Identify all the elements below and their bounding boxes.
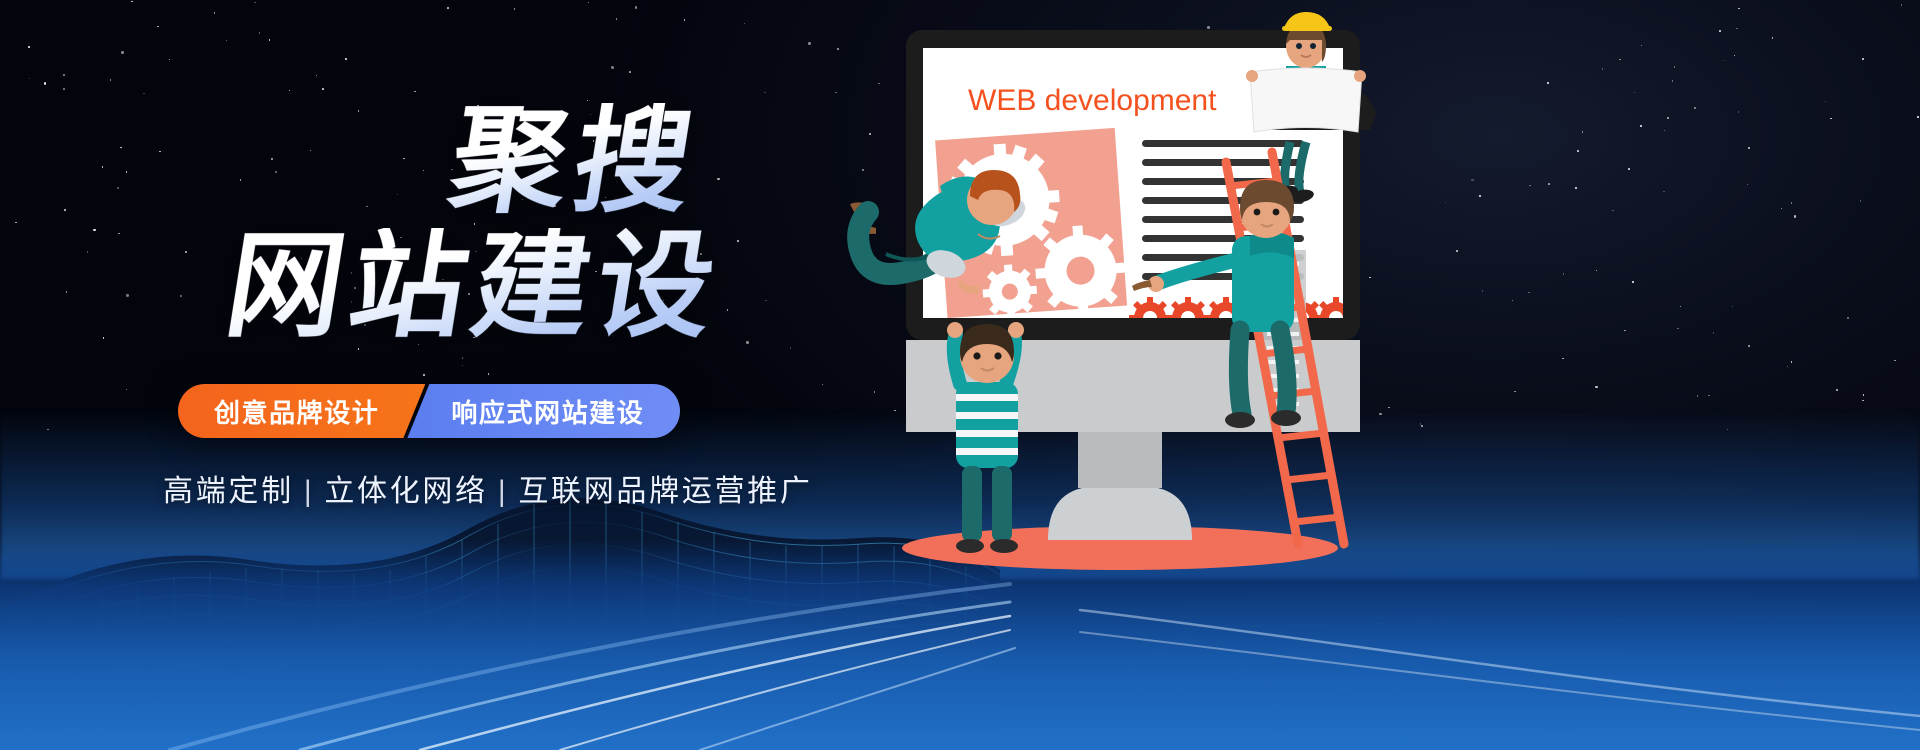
star [1563,273,1565,275]
monitor-base [1048,488,1192,540]
star [1738,111,1740,113]
star [1479,195,1481,197]
star [1562,358,1564,360]
star [1680,306,1682,308]
promo-banner: 聚搜 网站建设 创意品牌设计 响应式网站建设 高端定制|立体化网络|互联网品牌运… [0,0,1920,750]
star [1595,386,1598,389]
star [1836,389,1838,391]
star [1894,360,1896,362]
star [1641,45,1643,47]
star [1862,400,1864,402]
star [1548,183,1550,185]
star [1860,200,1862,202]
star [1734,55,1736,57]
star [1825,101,1827,103]
star [1862,58,1864,60]
star [1847,317,1849,319]
headline-line-1: 聚搜 [443,103,707,219]
star [1748,147,1750,149]
feature-pill-group: 创意品牌设计 响应式网站建设 [178,384,680,438]
illustration-svg: WEB development [820,0,1460,750]
screen-heading-text: WEB development [968,84,1217,117]
tagline-part-1: 高端定制 [163,475,294,508]
star [1664,130,1666,132]
star [1863,394,1865,396]
star [1512,300,1514,302]
star [1482,290,1484,292]
star [1719,30,1721,32]
star [1732,306,1734,308]
star [1577,150,1579,152]
star [1667,117,1669,119]
star [1612,210,1614,212]
star [1708,395,1710,397]
star [1624,330,1626,332]
star [1632,281,1634,283]
tagline-part-3: 互联网品牌运营推广 [518,475,812,508]
star [1575,187,1577,189]
star [1677,328,1679,330]
tagline-part-2: 立体化网络 [324,475,488,508]
star [1529,185,1531,187]
star [1634,92,1636,94]
star [1514,391,1516,393]
star [1628,168,1630,170]
pill-responsive-website[interactable]: 响应式网站建设 [407,384,680,438]
tagline-separator-2: | [488,475,519,508]
headline-block: 聚搜 网站建设 创意品牌设计 响应式网站建设 高端定制|立体化网络|互联网品牌运… [0,0,900,750]
web-development-illustration: WEB development [820,0,1460,750]
star [1694,107,1696,109]
star [1723,60,1725,62]
tagline-separator-1: | [294,475,325,508]
star [1602,68,1604,70]
star [1901,4,1903,6]
character-lifting-poster [947,322,1024,553]
pill-creative-brand-design[interactable]: 创意品牌设计 [178,384,425,438]
headline-line-2: 网站建设 [219,228,729,344]
star [1547,82,1549,84]
star [1830,118,1832,120]
star [1713,332,1715,334]
monitor-neck [1078,430,1162,488]
tagline: 高端定制|立体化网络|互联网品牌运营推广 [163,466,813,510]
star [1619,59,1621,61]
star [1781,208,1783,210]
star [1596,270,1598,272]
star [1747,184,1749,186]
star [1672,80,1674,82]
star [1794,215,1797,218]
star [1738,8,1740,10]
star [1528,292,1530,294]
star [1674,66,1676,68]
star [1787,366,1789,368]
star [1791,361,1793,363]
star [1697,395,1699,397]
star [1582,131,1584,133]
star [1917,116,1919,118]
star [1663,191,1665,193]
star [1640,125,1642,127]
star [1791,202,1793,204]
star [1748,345,1751,348]
star [1736,28,1738,30]
star [1471,179,1474,182]
star [1772,37,1774,39]
